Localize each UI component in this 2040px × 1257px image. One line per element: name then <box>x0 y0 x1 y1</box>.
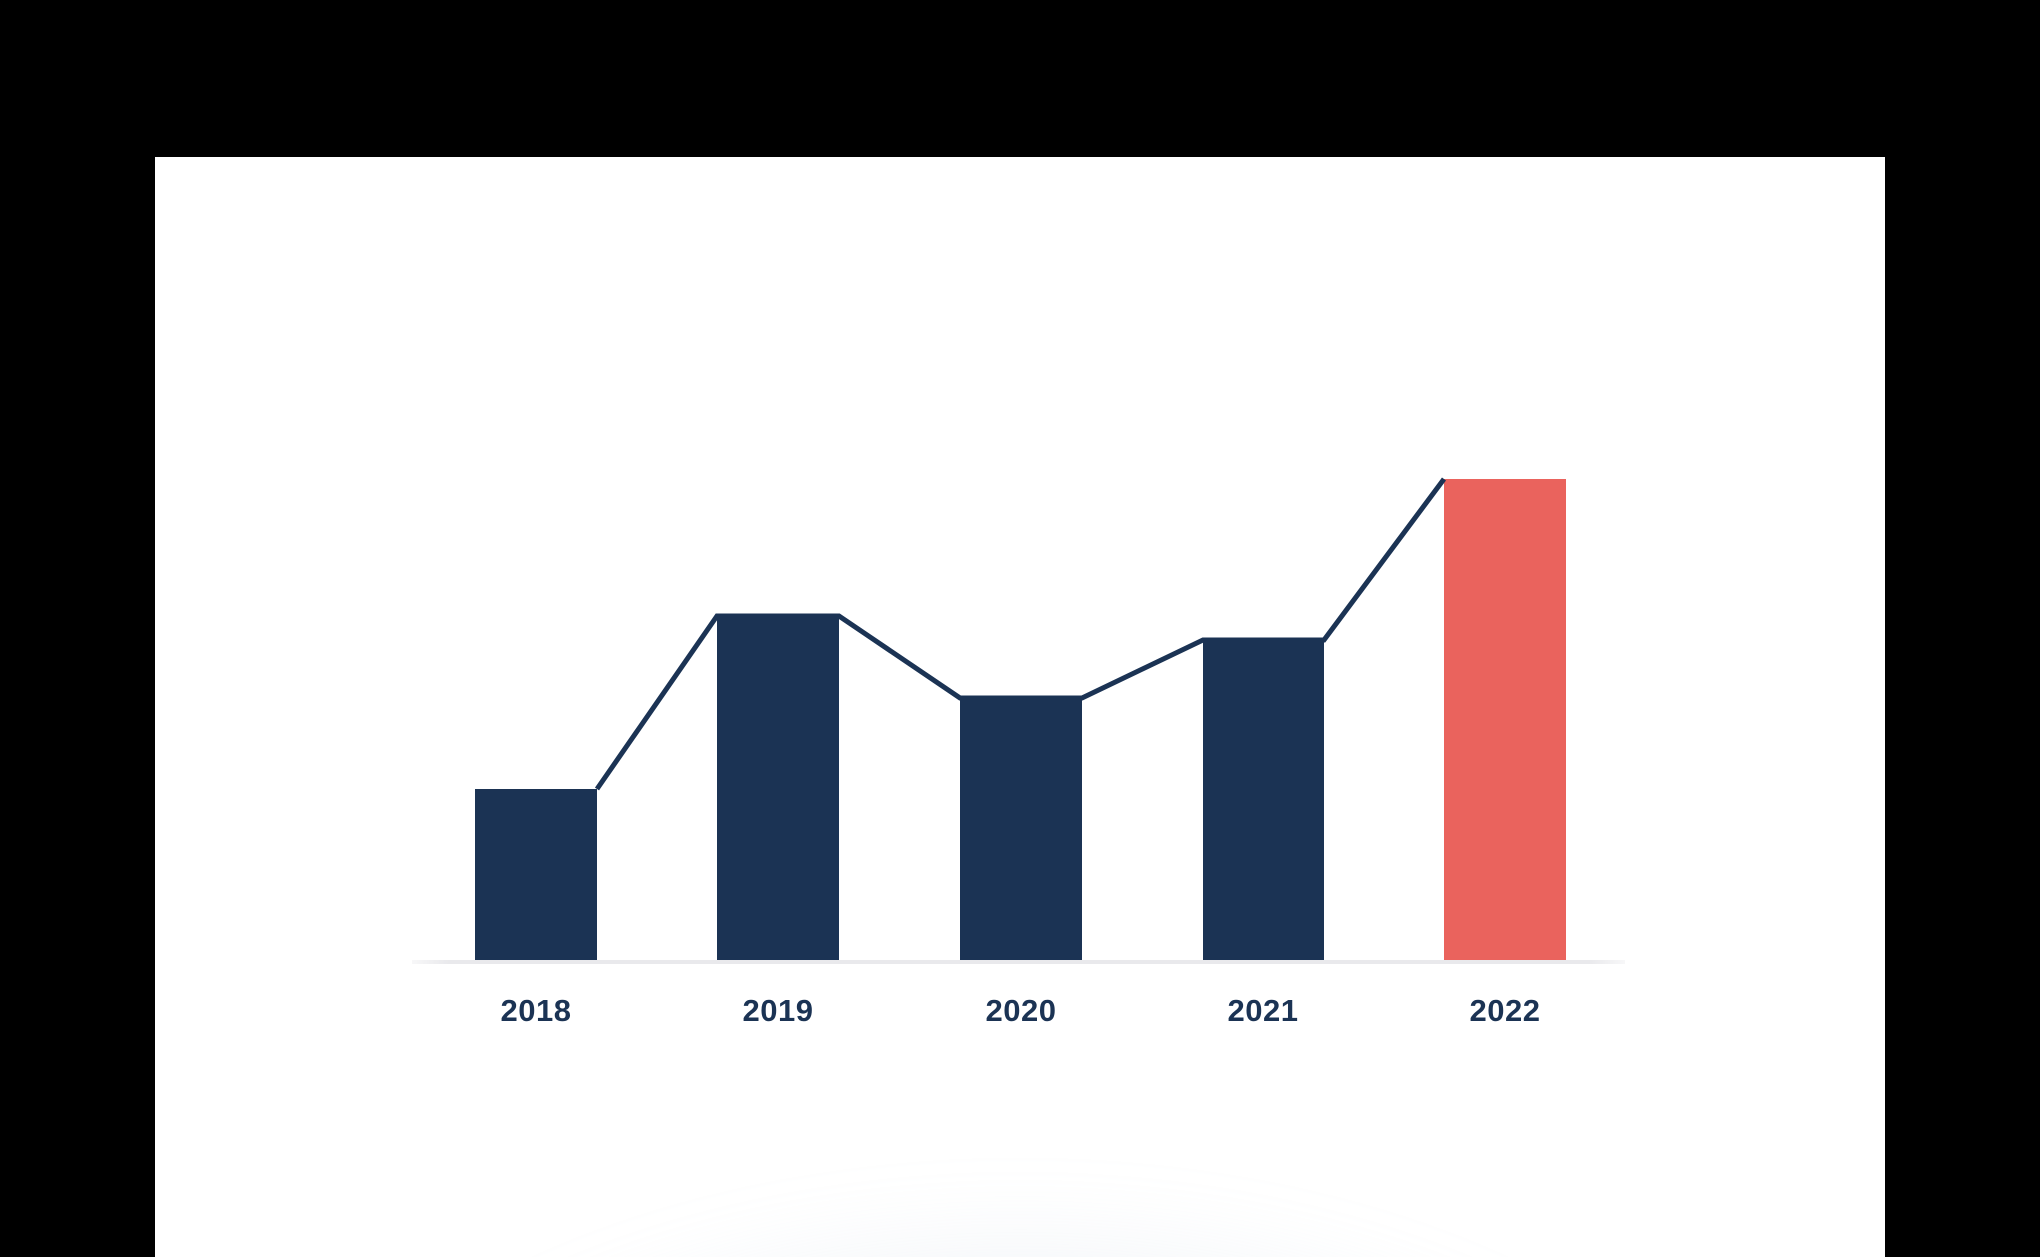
screenshot-root: 2018 2019 2020 2021 2022 <box>0 0 2040 1200</box>
bar-2022-highlight[interactable] <box>1444 479 1566 960</box>
bar-2018[interactable] <box>475 789 597 960</box>
chart-plot-area: 2018 2019 2020 2021 2022 <box>155 157 1885 1257</box>
chart-card: 2018 2019 2020 2021 2022 <box>155 157 1885 1257</box>
x-tick-label-2022: 2022 <box>1405 993 1605 1029</box>
x-tick-label-2019: 2019 <box>678 993 878 1029</box>
x-tick-label-2018: 2018 <box>436 993 636 1029</box>
x-tick-label-2021: 2021 <box>1163 993 1363 1029</box>
x-axis-line <box>412 960 1625 964</box>
bar-2019[interactable] <box>717 616 839 960</box>
bar-2021[interactable] <box>1203 640 1324 960</box>
x-tick-label-2020: 2020 <box>921 993 1121 1029</box>
bar-2020[interactable] <box>960 698 1082 960</box>
